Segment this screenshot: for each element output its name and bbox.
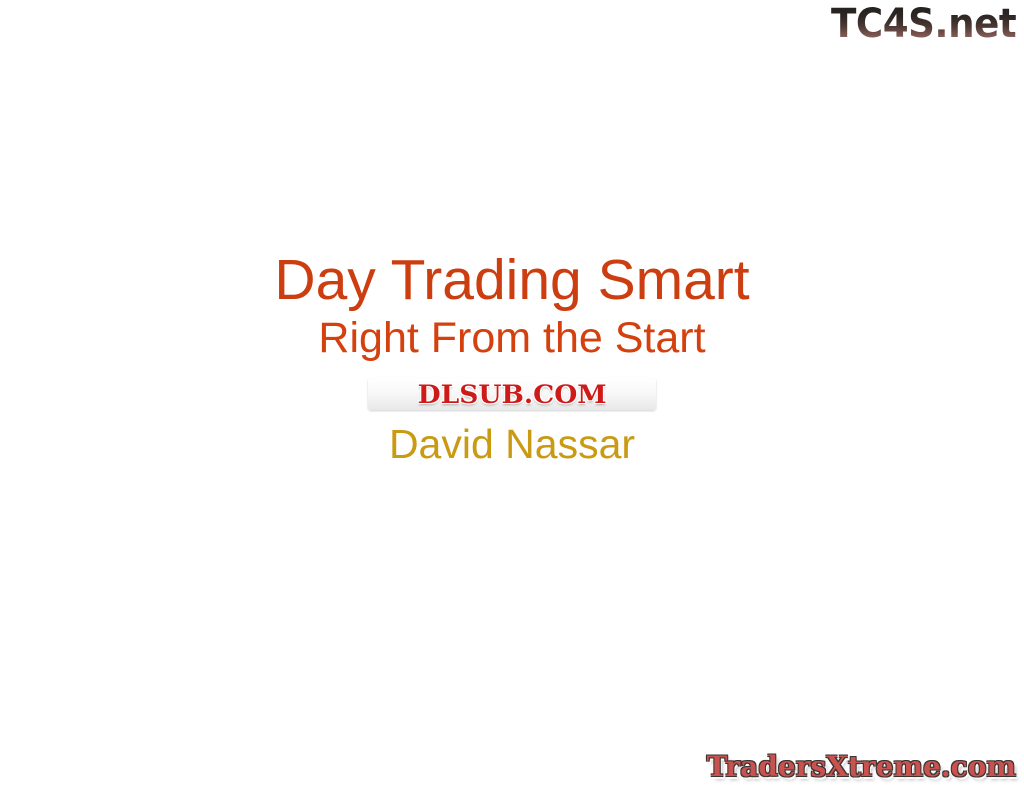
page-subtitle: Right From the Start bbox=[0, 315, 1024, 361]
dlsub-watermark-label: DLSUB.COM bbox=[417, 382, 606, 407]
page-title: Day Trading Smart bbox=[0, 250, 1024, 310]
tradersxtreme-watermark-logo: TradersXtreme.com bbox=[707, 753, 1016, 781]
dlsub-watermark-logo: DLSUB.COM bbox=[368, 378, 656, 410]
author-name: David Nassar bbox=[0, 422, 1024, 466]
title-block: Day Trading Smart Right From the Start D… bbox=[0, 250, 1024, 466]
tc4s-watermark-logo: TC4S.net bbox=[831, 4, 1016, 44]
presentation-slide: TC4S.net Day Trading Smart Right From th… bbox=[0, 0, 1024, 791]
